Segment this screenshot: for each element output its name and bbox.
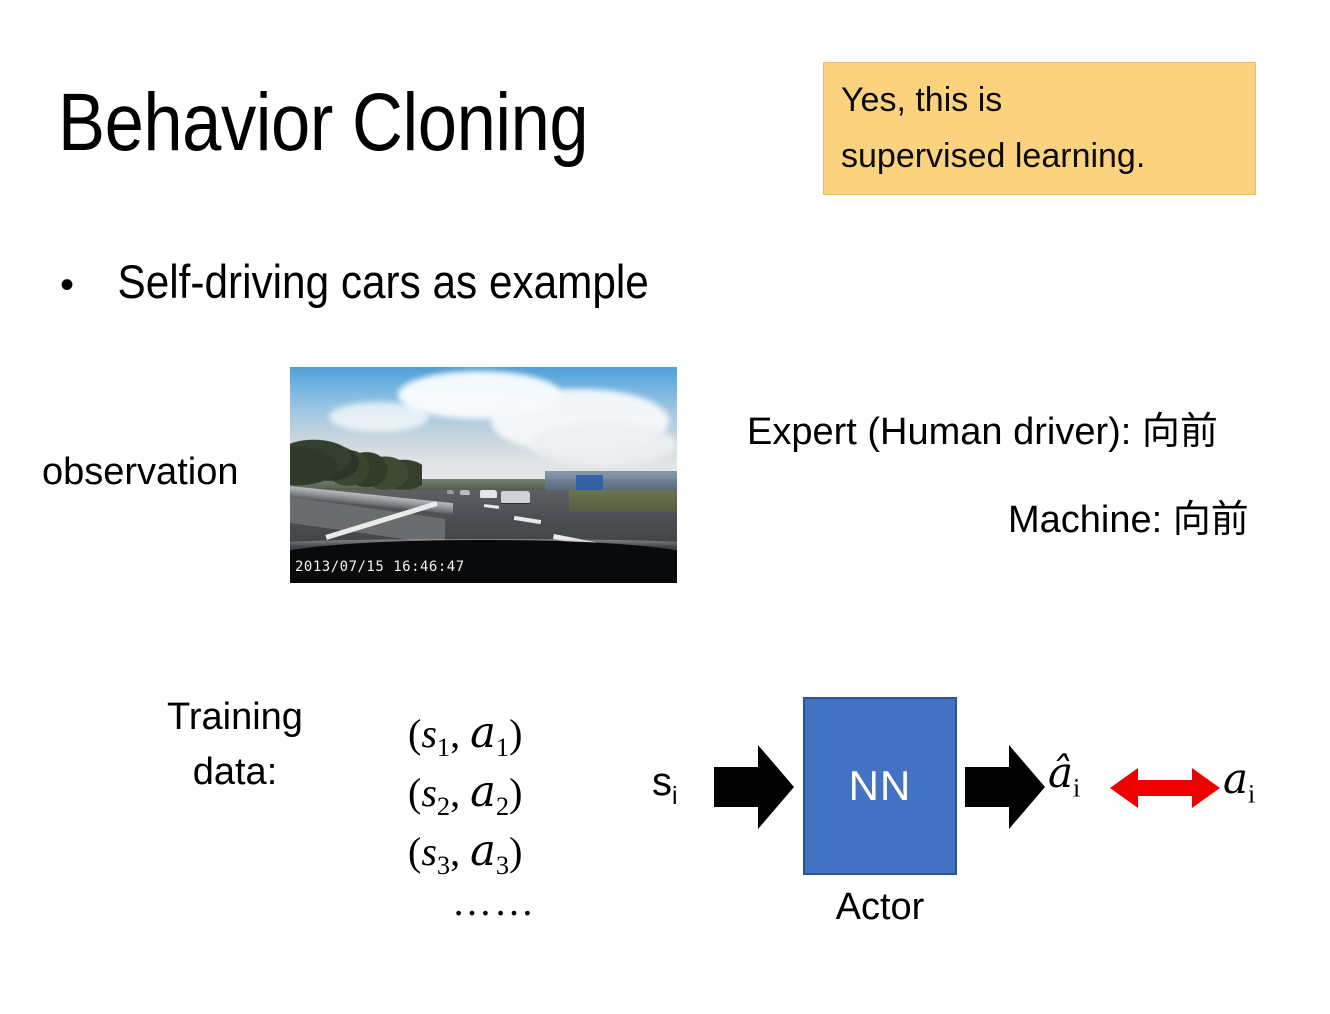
state-symbol: s bbox=[421, 711, 437, 756]
predicted-action-symbol: â bbox=[1048, 748, 1073, 797]
training-pairs-list: (s1, a1) (s2, a2) (s3, a3) bbox=[408, 706, 522, 882]
action-symbol: a bbox=[470, 708, 496, 758]
machine-action-value: 向前 bbox=[1173, 497, 1249, 541]
list-item: (s3, a3) bbox=[408, 824, 522, 883]
dashcam-photo: 2013/07/15 16:46:47 bbox=[290, 367, 677, 583]
callout-box: Yes, this is supervised learning. bbox=[823, 62, 1256, 195]
state-subscript: 3 bbox=[437, 850, 450, 880]
state-subscript: 1 bbox=[437, 732, 450, 762]
target-action-symbol: a bbox=[1223, 754, 1248, 803]
observation-label: observation bbox=[42, 453, 238, 491]
photo-car bbox=[480, 490, 497, 498]
list-item: (s1, a1) bbox=[408, 706, 522, 765]
paren-close: ) bbox=[509, 711, 522, 756]
photo-grass-verge bbox=[569, 490, 677, 512]
photo-timestamp: 2013/07/15 16:46:47 bbox=[295, 559, 465, 575]
action-symbol: a bbox=[470, 826, 496, 876]
predicted-action-subscript: i bbox=[1073, 773, 1080, 802]
state-symbol: s bbox=[421, 770, 437, 815]
state-subscript: 2 bbox=[437, 791, 450, 821]
machine-action-line: Machine: 向前 bbox=[1008, 500, 1249, 539]
action-subscript: 3 bbox=[496, 850, 509, 880]
pair-comma: , bbox=[450, 711, 470, 756]
photo-car bbox=[460, 490, 470, 495]
state-symbol: s bbox=[421, 829, 437, 874]
bullet-marker-icon: • bbox=[60, 265, 74, 305]
training-data-label-line-1: Training bbox=[145, 690, 325, 745]
neural-network-box: NN bbox=[803, 697, 957, 875]
paren-close: ) bbox=[509, 770, 522, 815]
paren-close: ) bbox=[509, 829, 522, 874]
list-item: (s2, a2) bbox=[408, 765, 522, 824]
comparison-double-arrow-icon bbox=[1110, 765, 1220, 811]
paren-open: ( bbox=[408, 829, 421, 874]
training-pairs-ellipsis: …… bbox=[452, 882, 536, 922]
network-input-label: si bbox=[652, 762, 678, 810]
machine-label: Machine: bbox=[1008, 499, 1173, 541]
pair-comma: , bbox=[450, 770, 470, 815]
input-flow-arrow-icon bbox=[714, 745, 794, 829]
photo-car bbox=[501, 491, 530, 503]
paren-open: ( bbox=[408, 711, 421, 756]
callout-line-1: Yes, this is bbox=[841, 83, 1002, 117]
photo-treeline bbox=[290, 406, 422, 492]
expert-label: Expert (Human driver): bbox=[747, 411, 1142, 453]
actor-caption: Actor bbox=[803, 888, 957, 926]
target-action-subscript: i bbox=[1248, 779, 1255, 808]
pair-comma: , bbox=[450, 829, 470, 874]
expert-action-value: 向前 bbox=[1142, 409, 1218, 453]
slide-canvas: Behavior Cloning Yes, this is supervised… bbox=[0, 0, 1330, 1014]
neural-network-label: NN bbox=[849, 765, 912, 807]
paren-open: ( bbox=[408, 770, 421, 815]
predicted-action-label: âi bbox=[1048, 752, 1080, 801]
photo-car bbox=[447, 490, 454, 494]
bullet-item: • Self-driving cars as example bbox=[60, 258, 678, 305]
output-flow-arrow-icon bbox=[965, 745, 1045, 829]
action-subscript: 1 bbox=[496, 732, 509, 762]
input-symbol: s bbox=[652, 760, 672, 804]
photo-cloud bbox=[530, 423, 677, 466]
page-title: Behavior Cloning bbox=[58, 82, 588, 164]
action-subscript: 2 bbox=[496, 791, 509, 821]
bullet-label: Self-driving cars as example bbox=[118, 258, 649, 305]
action-symbol: a bbox=[470, 767, 496, 817]
target-action-label: ai bbox=[1223, 758, 1255, 807]
input-subscript: i bbox=[672, 783, 678, 810]
expert-action-line: Expert (Human driver): 向前 bbox=[747, 412, 1218, 451]
callout-line-2: supervised learning. bbox=[841, 139, 1145, 173]
training-data-label-line-2: data: bbox=[145, 745, 325, 800]
training-data-label: Training data: bbox=[145, 690, 325, 800]
